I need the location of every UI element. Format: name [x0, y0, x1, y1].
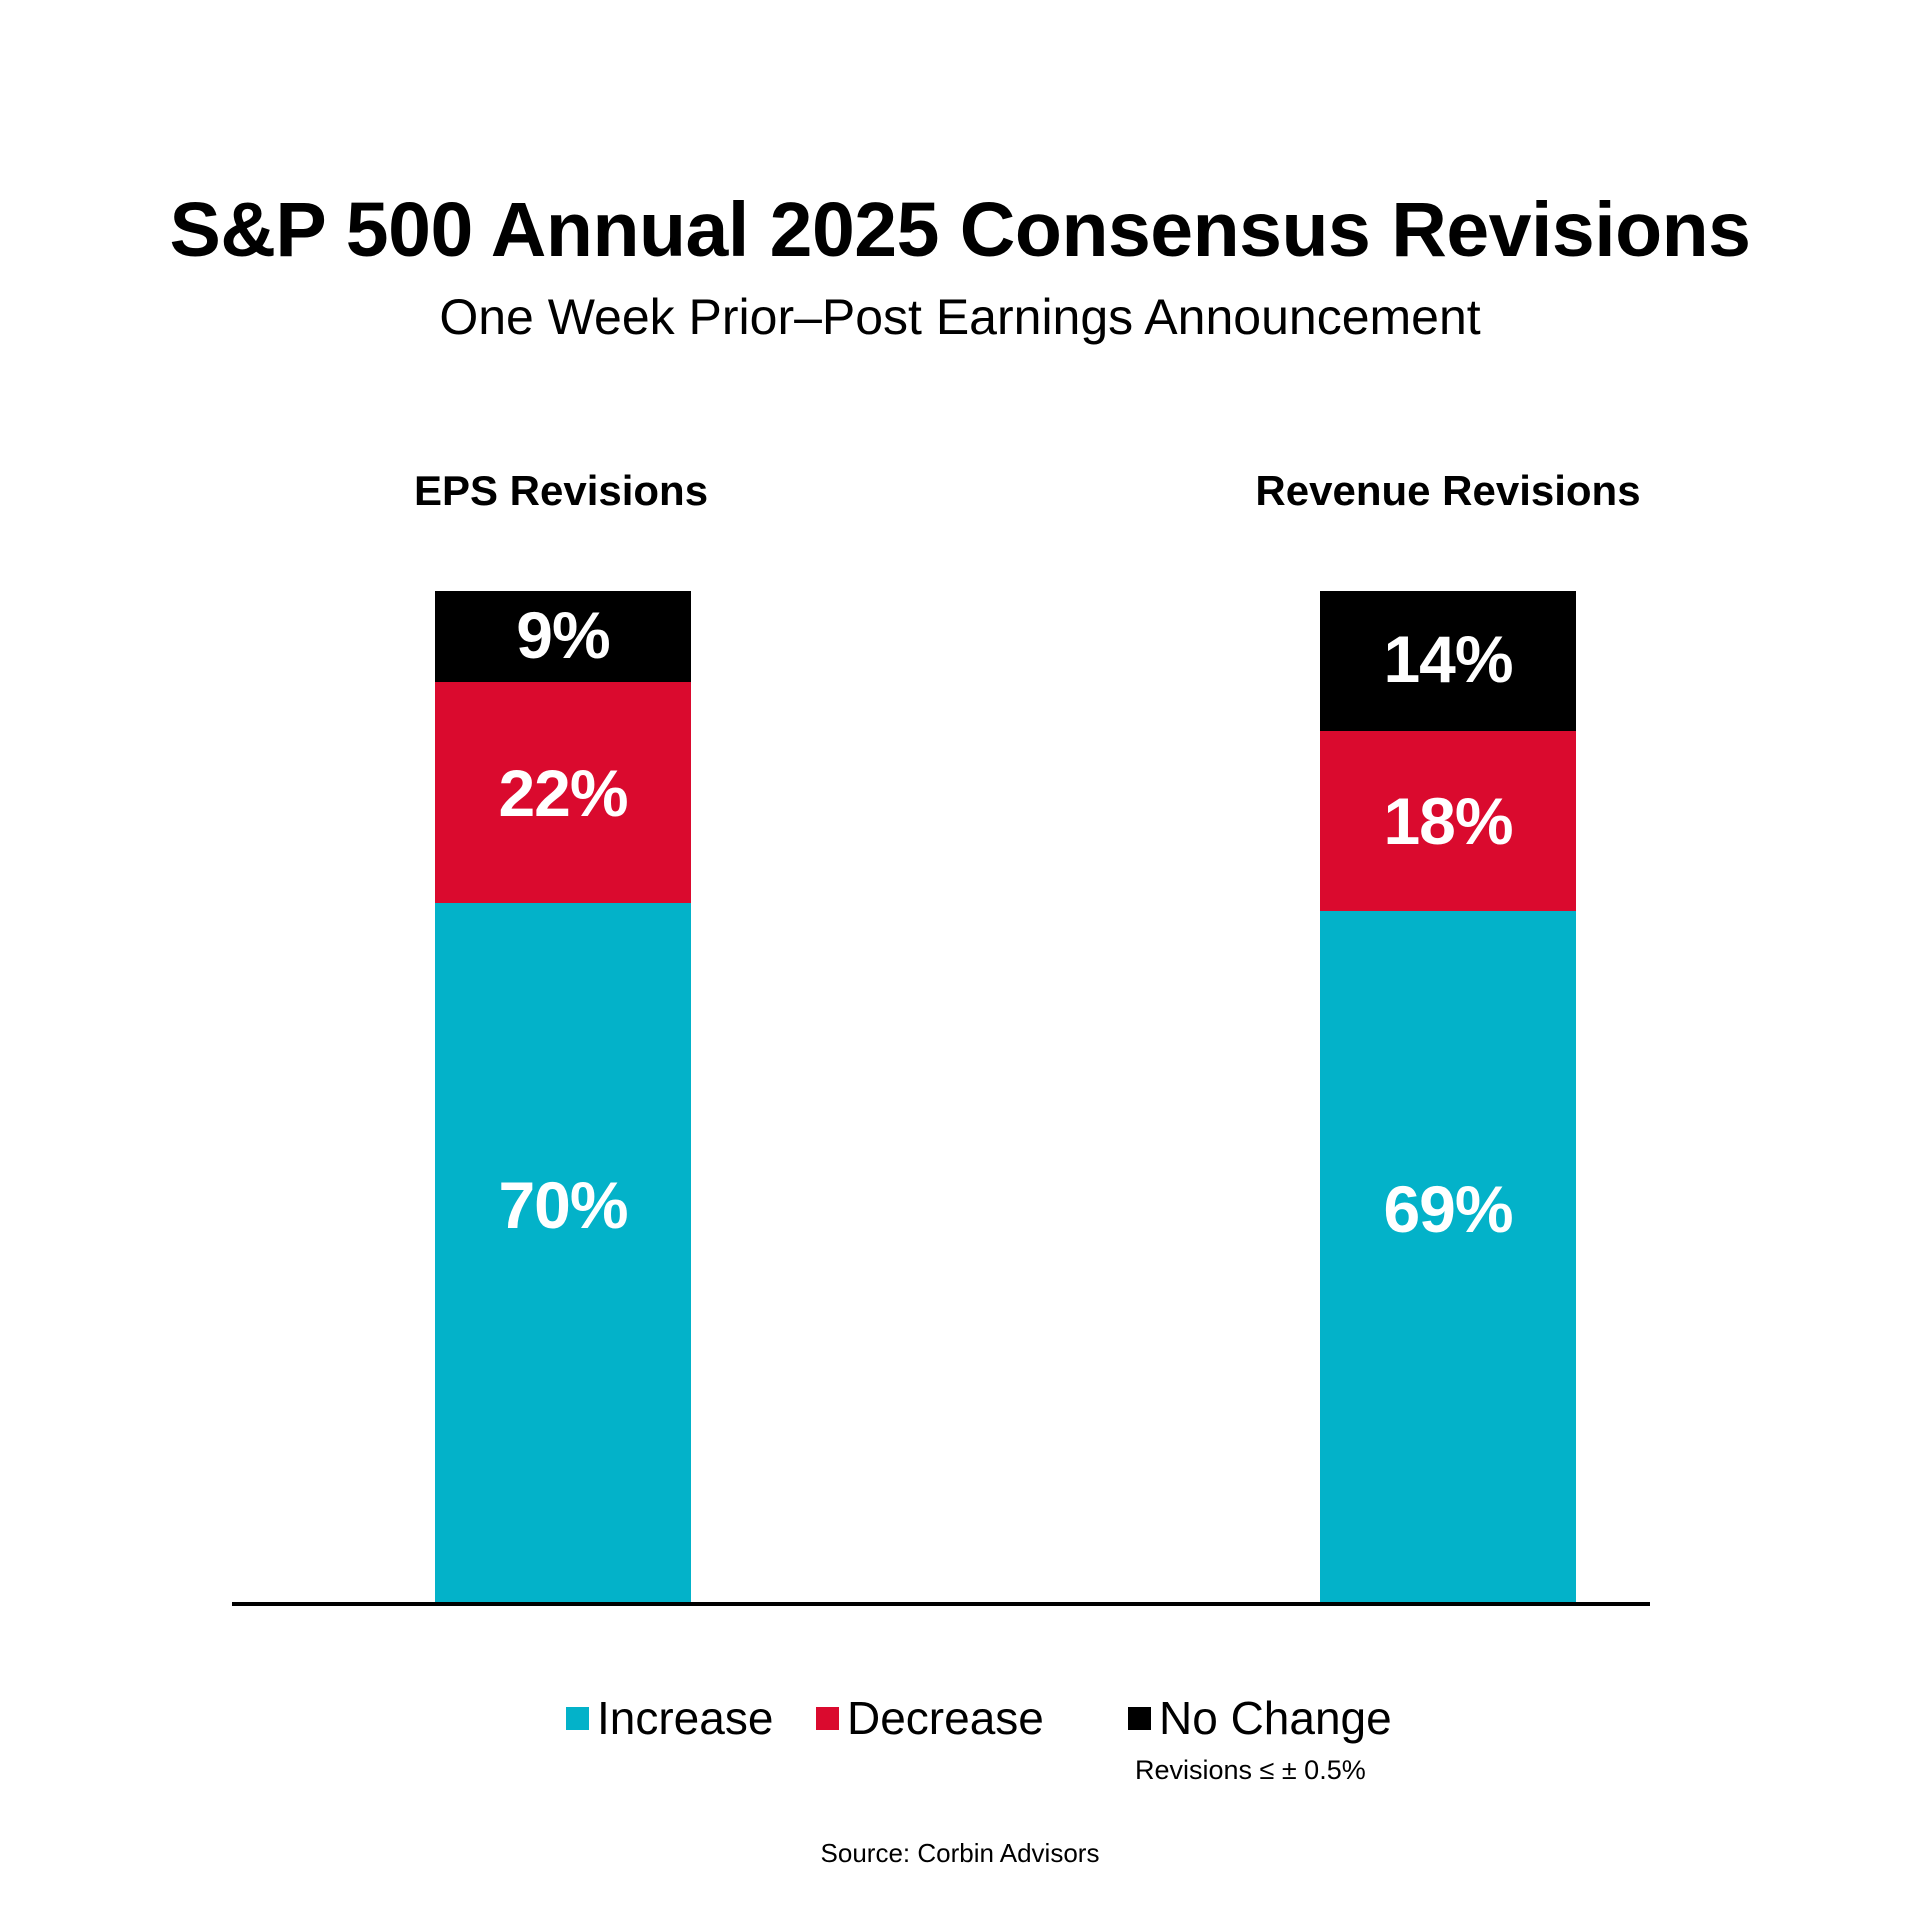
legend-item-increase[interactable]: Increase — [566, 1695, 773, 1741]
bar-segment-eps-decrease[interactable]: 22% — [435, 682, 691, 903]
plot-area: 9% 22% 70% 14% 18% 69% — [0, 0, 1920, 1920]
bar-segment-revenue-decrease[interactable]: 18% — [1320, 731, 1576, 911]
x-axis-line — [232, 1602, 1650, 1606]
stacked-bar-revenue: 14% 18% 69% — [1320, 591, 1576, 1602]
bar-value-label-eps-no-change: 9% — [516, 602, 609, 668]
bar-value-label-revenue-no-change: 14% — [1383, 626, 1512, 692]
square-swatch-nochange-icon — [1128, 1707, 1151, 1730]
square-swatch-decrease-icon — [816, 1707, 839, 1730]
bar-value-label-eps-decrease: 22% — [498, 760, 627, 826]
legend-item-no-change[interactable]: No Change — [1128, 1695, 1392, 1741]
chart-legend: Increase Decrease No Change — [0, 1695, 1920, 1755]
stacked-bar-eps: 9% 22% 70% — [435, 591, 691, 1602]
square-swatch-increase-icon — [566, 1707, 589, 1730]
legend-label-decrease: Decrease — [847, 1695, 1044, 1741]
legend-item-decrease[interactable]: Decrease — [816, 1695, 1044, 1741]
bar-segment-revenue-increase[interactable]: 69% — [1320, 911, 1576, 1602]
chart-canvas: S&P 500 Annual 2025 Consensus Revisions … — [0, 0, 1920, 1920]
legend-label-no-change: No Change — [1159, 1695, 1392, 1741]
bar-value-label-revenue-decrease: 18% — [1383, 788, 1512, 854]
bar-segment-eps-increase[interactable]: 70% — [435, 903, 691, 1602]
bar-value-label-eps-increase: 70% — [498, 1172, 627, 1238]
legend-label-increase: Increase — [597, 1695, 773, 1741]
bar-segment-eps-no-change[interactable]: 9% — [435, 591, 691, 682]
source-attribution: Source: Corbin Advisors — [0, 1840, 1920, 1866]
legend-footnote: Revisions ≤ ± 0.5% — [1135, 1757, 1366, 1784]
bar-value-label-revenue-increase: 69% — [1383, 1176, 1512, 1242]
bar-segment-revenue-no-change[interactable]: 14% — [1320, 591, 1576, 731]
